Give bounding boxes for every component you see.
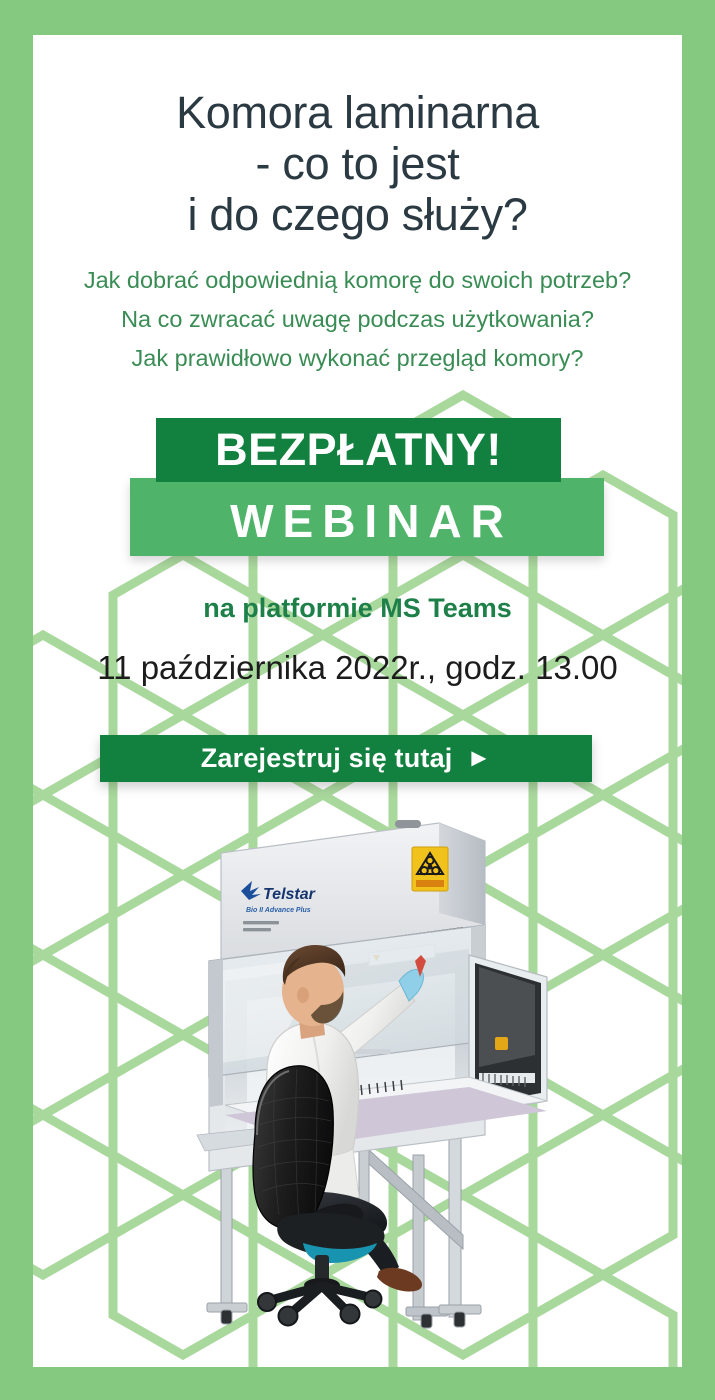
register-button[interactable]: Zarejestruj się tutaj ► bbox=[100, 735, 592, 782]
subtitle-line-1: Jak dobrać odpowiednią komorę do swoich … bbox=[33, 261, 682, 300]
title-line-3: i do czego służy? bbox=[33, 189, 682, 240]
laminar-cabinet-photo: Telstar Bio II Advance Plus bbox=[163, 805, 583, 1335]
subtitle-line-3: Jak prawidłowo wykonać przegląd komory? bbox=[33, 339, 682, 378]
platform-text: na platformie MS Teams bbox=[33, 593, 682, 624]
title-line-2: - co to jest bbox=[33, 138, 682, 189]
play-triangle-icon: ► bbox=[467, 746, 492, 771]
biosafety-cabinet: Telstar Bio II Advance Plus bbox=[197, 820, 547, 1171]
date-text: 11 października 2022r., godz. 13.00 bbox=[33, 649, 682, 687]
page-title: Komora laminarna - co to jest i do czego… bbox=[33, 87, 682, 240]
subtitle-questions: Jak dobrać odpowiednią komorę do swoich … bbox=[33, 261, 682, 378]
free-band: BEZPŁATNY! bbox=[156, 418, 561, 482]
title-line-1: Komora laminarna bbox=[33, 87, 682, 138]
svg-text:Telstar: Telstar bbox=[263, 886, 316, 903]
free-label: BEZPŁATNY! bbox=[156, 418, 561, 482]
subtitle-line-2: Na co zwracać uwagę podczas użytkowania? bbox=[33, 300, 682, 339]
register-button-label: Zarejestruj się tutaj bbox=[201, 745, 453, 772]
biohazard-icon bbox=[412, 847, 448, 891]
poster-inner-panel: Komora laminarna - co to jest i do czego… bbox=[33, 35, 682, 1367]
svg-text:Bio II Advance Plus: Bio II Advance Plus bbox=[246, 907, 311, 914]
webinar-band: WEBINAR bbox=[130, 478, 604, 556]
webinar-poster: Komora laminarna - co to jest i do czego… bbox=[0, 0, 715, 1400]
webinar-label: WEBINAR bbox=[130, 478, 604, 556]
